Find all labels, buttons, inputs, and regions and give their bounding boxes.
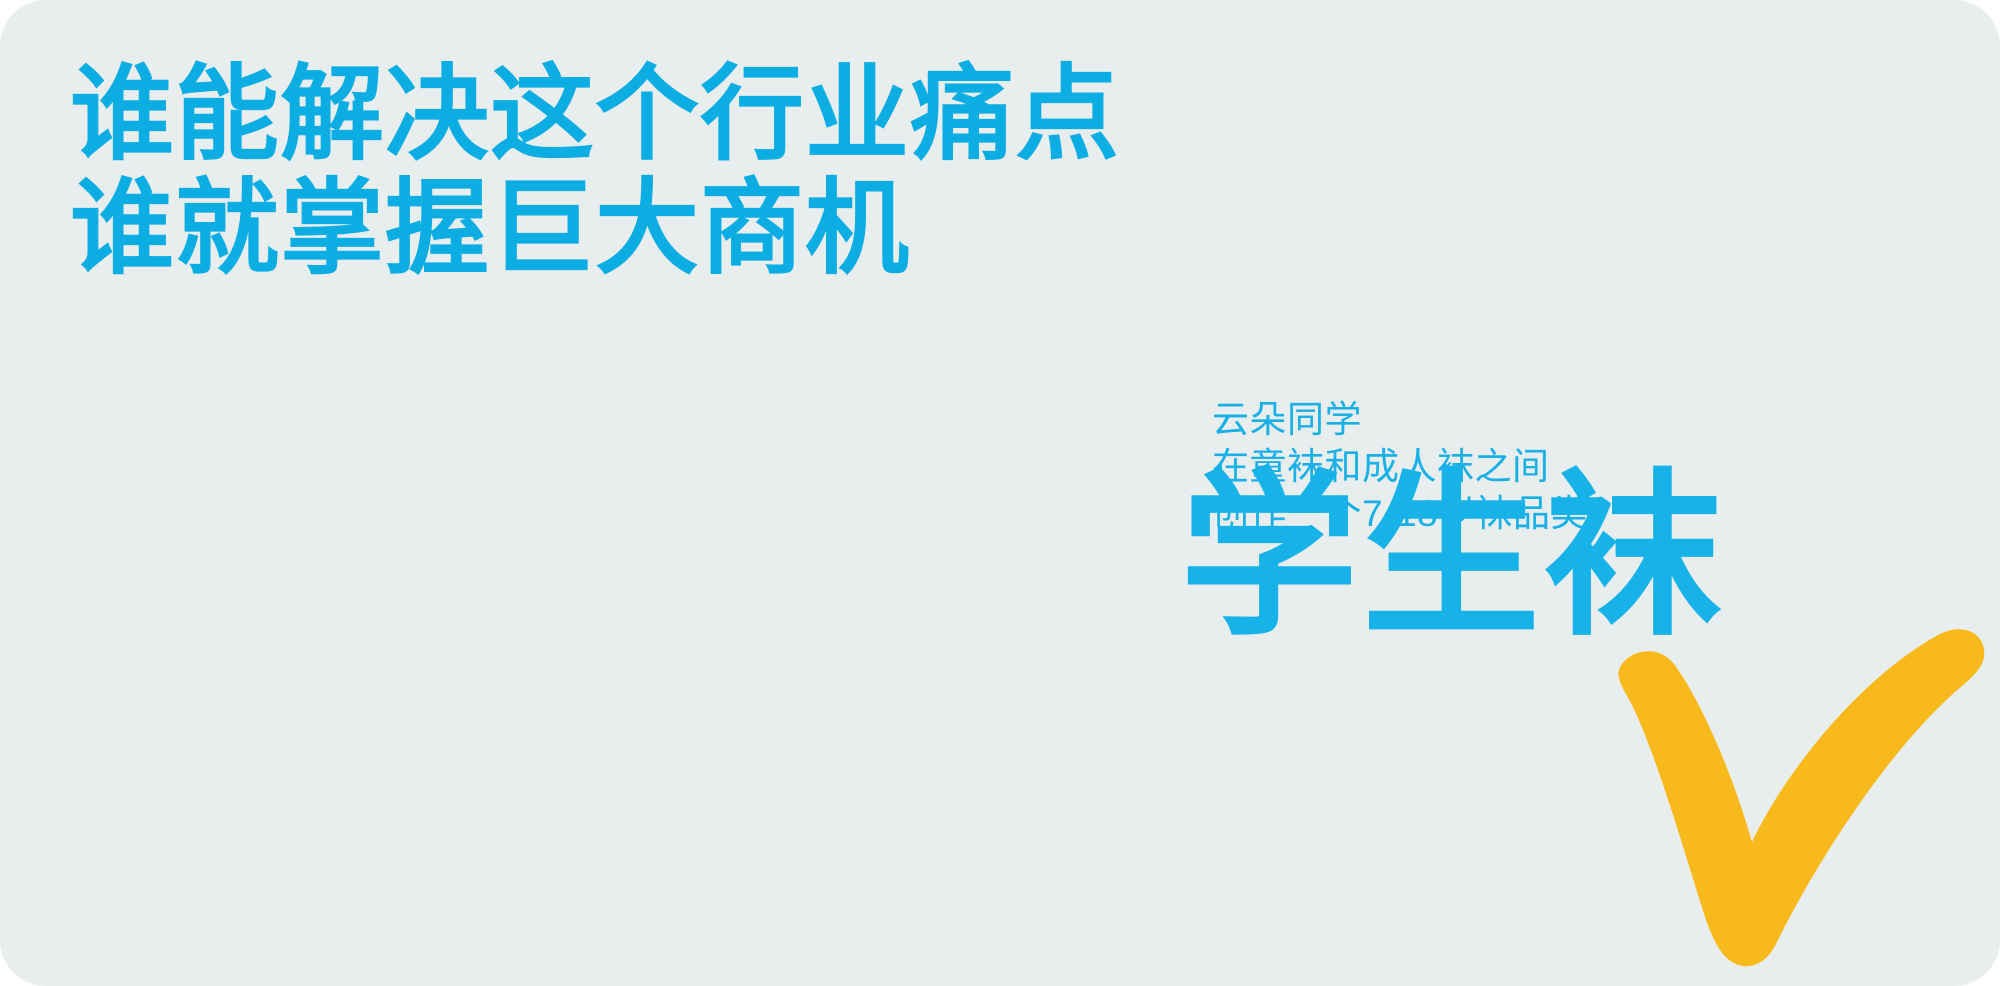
page-title: 谁能解决这个行业痛点 谁就掌握巨大商机 xyxy=(70,58,1120,286)
headline-line-1: 谁能解决这个行业痛点 xyxy=(70,58,1120,172)
subtext-line-1: 云朵同学 xyxy=(1212,396,1972,443)
product-label: 学生袜 xyxy=(1180,468,1726,646)
poster-card: 谁能解决这个行业痛点 谁就掌握巨大商机 云朵同学 在童袜和成人袜之间 创作一个7… xyxy=(0,0,2000,986)
headline-line-2: 谁就掌握巨大商机 xyxy=(70,172,1120,286)
product-label-area: 学生袜 xyxy=(1180,468,2000,986)
